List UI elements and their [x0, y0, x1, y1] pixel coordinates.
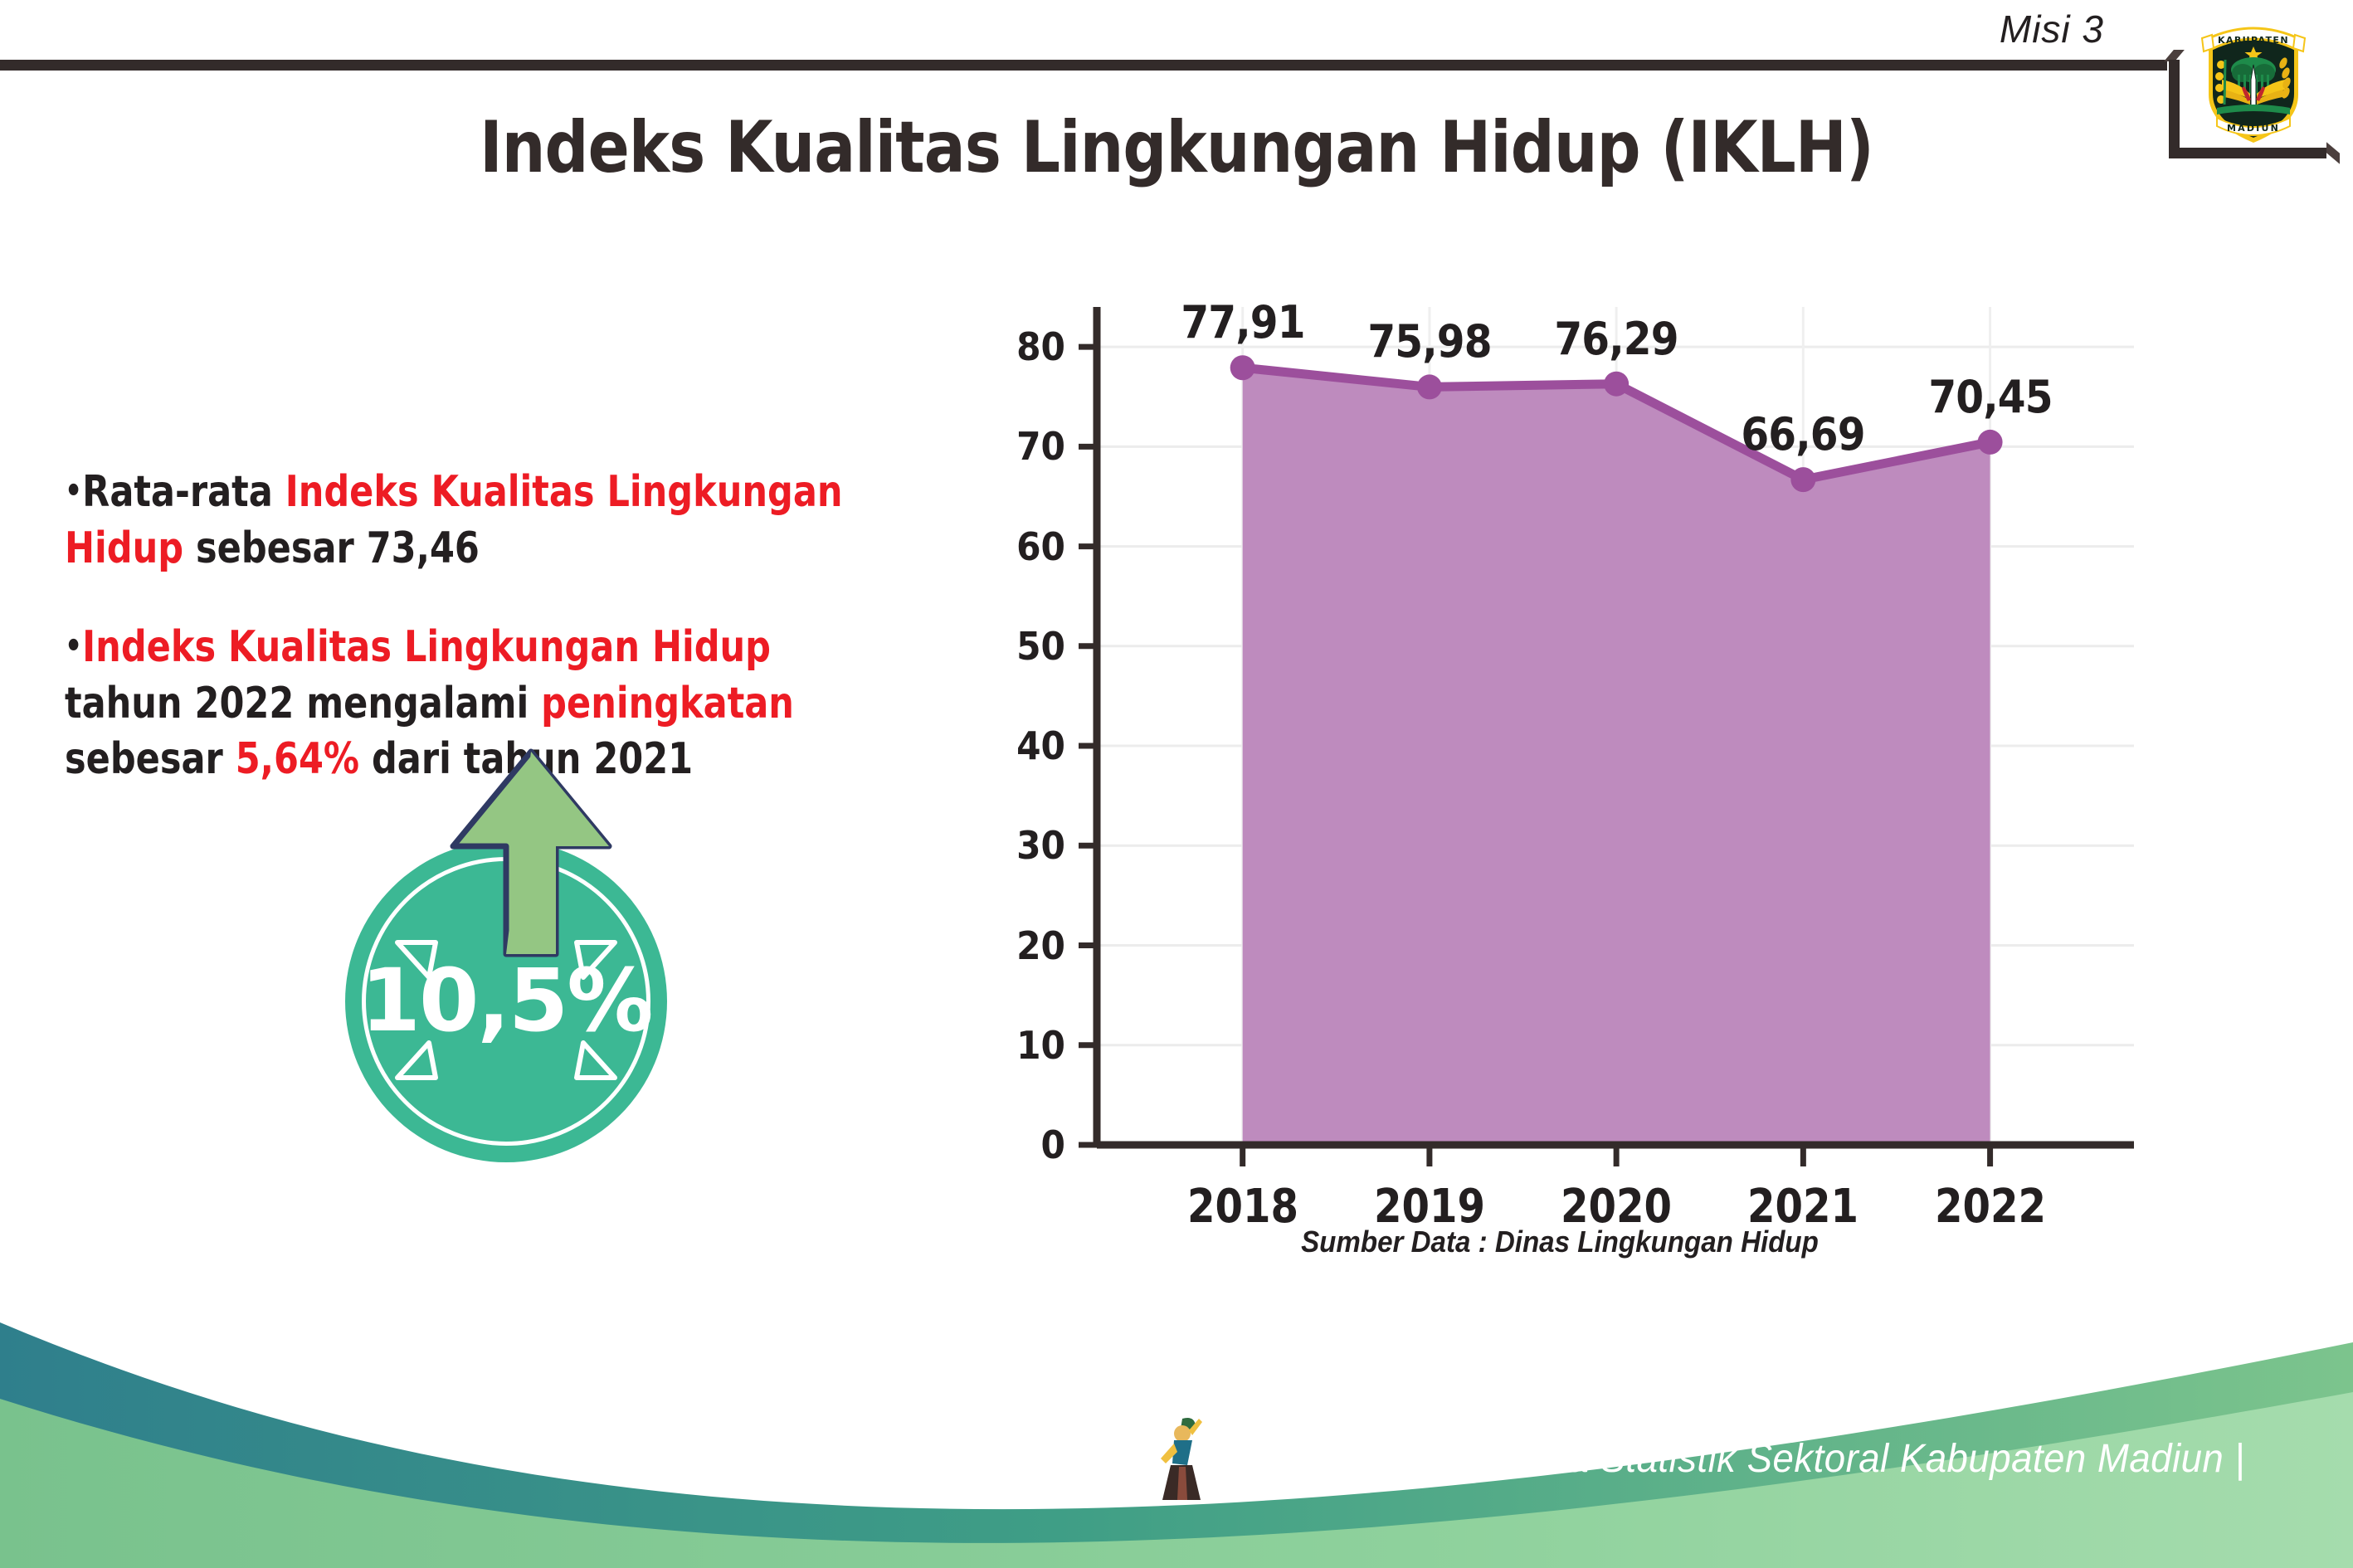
statistics-mascot-icon [1149, 1414, 1220, 1505]
y-axis-tick-label: 70 [989, 424, 1065, 469]
bullet-highlight: Indeks Kualitas Lingkungan Hidup [82, 622, 771, 672]
y-axis-tick-label: 20 [989, 923, 1065, 968]
data-point-label: 66,69 [1706, 408, 1900, 460]
y-axis-tick-label: 0 [989, 1122, 1065, 1167]
data-point-label: 77,91 [1146, 296, 1340, 348]
chart-plot-area [979, 290, 2141, 1211]
bullet-text: Rata-rata [82, 467, 285, 517]
increase-badge: 10,5% [314, 738, 745, 1170]
chart-source-note: Sumber Data : Dinas Lingkungan Hidup [1025, 1225, 2094, 1259]
kabupaten-madiun-logo-icon: KABUPATEN MADIUN [2197, 15, 2310, 148]
bullet-marker: • [65, 627, 82, 665]
data-point-label: 70,45 [1893, 371, 2087, 423]
bullet-highlight: peningkatan [541, 679, 794, 728]
bullet-text: sebesar [65, 734, 236, 784]
y-axis-tick-label: 50 [989, 624, 1065, 669]
iklh-area-chart: 01020304050607080 20182019202020212022 7… [979, 290, 2141, 1211]
badge-value: 10,5% [345, 950, 667, 1051]
y-axis-tick-label: 40 [989, 723, 1065, 768]
y-axis-tick-label: 80 [989, 324, 1065, 369]
header-rule [0, 60, 2167, 71]
svg-text:MADIUN: MADIUN [2227, 123, 2280, 134]
svg-text:KABUPATEN: KABUPATEN [2218, 35, 2289, 46]
footer-text: Media Infografis Data Statistik Sektoral… [1221, 1436, 2245, 1482]
page-title: Indeks Kualitas Lingkungan Hidup (IKLH) [165, 106, 2189, 189]
logo-frame-horizontal [2169, 148, 2326, 158]
misi-label: Misi 3 [2000, 7, 2104, 51]
y-axis-tick-label: 60 [989, 524, 1065, 569]
bullet-item: •Rata-rata Indeks Kualitas Lingkungan Hi… [65, 465, 897, 577]
logo-frame-bevel-right [2326, 142, 2340, 163]
bullet-marker: • [65, 472, 82, 510]
bullet-text: tahun 2022 mengalami [65, 679, 541, 728]
chart-area-fill [1243, 368, 1990, 1145]
bullet-text: sebesar 73,46 [183, 523, 480, 573]
y-axis-tick-label: 30 [989, 823, 1065, 868]
footer-band: Media Infografis Data Statistik Sektoral… [0, 1294, 2353, 1568]
y-axis-tick-label: 10 [989, 1023, 1065, 1068]
data-point-label: 76,29 [1519, 313, 1713, 365]
data-point-label: 75,98 [1332, 315, 1527, 368]
